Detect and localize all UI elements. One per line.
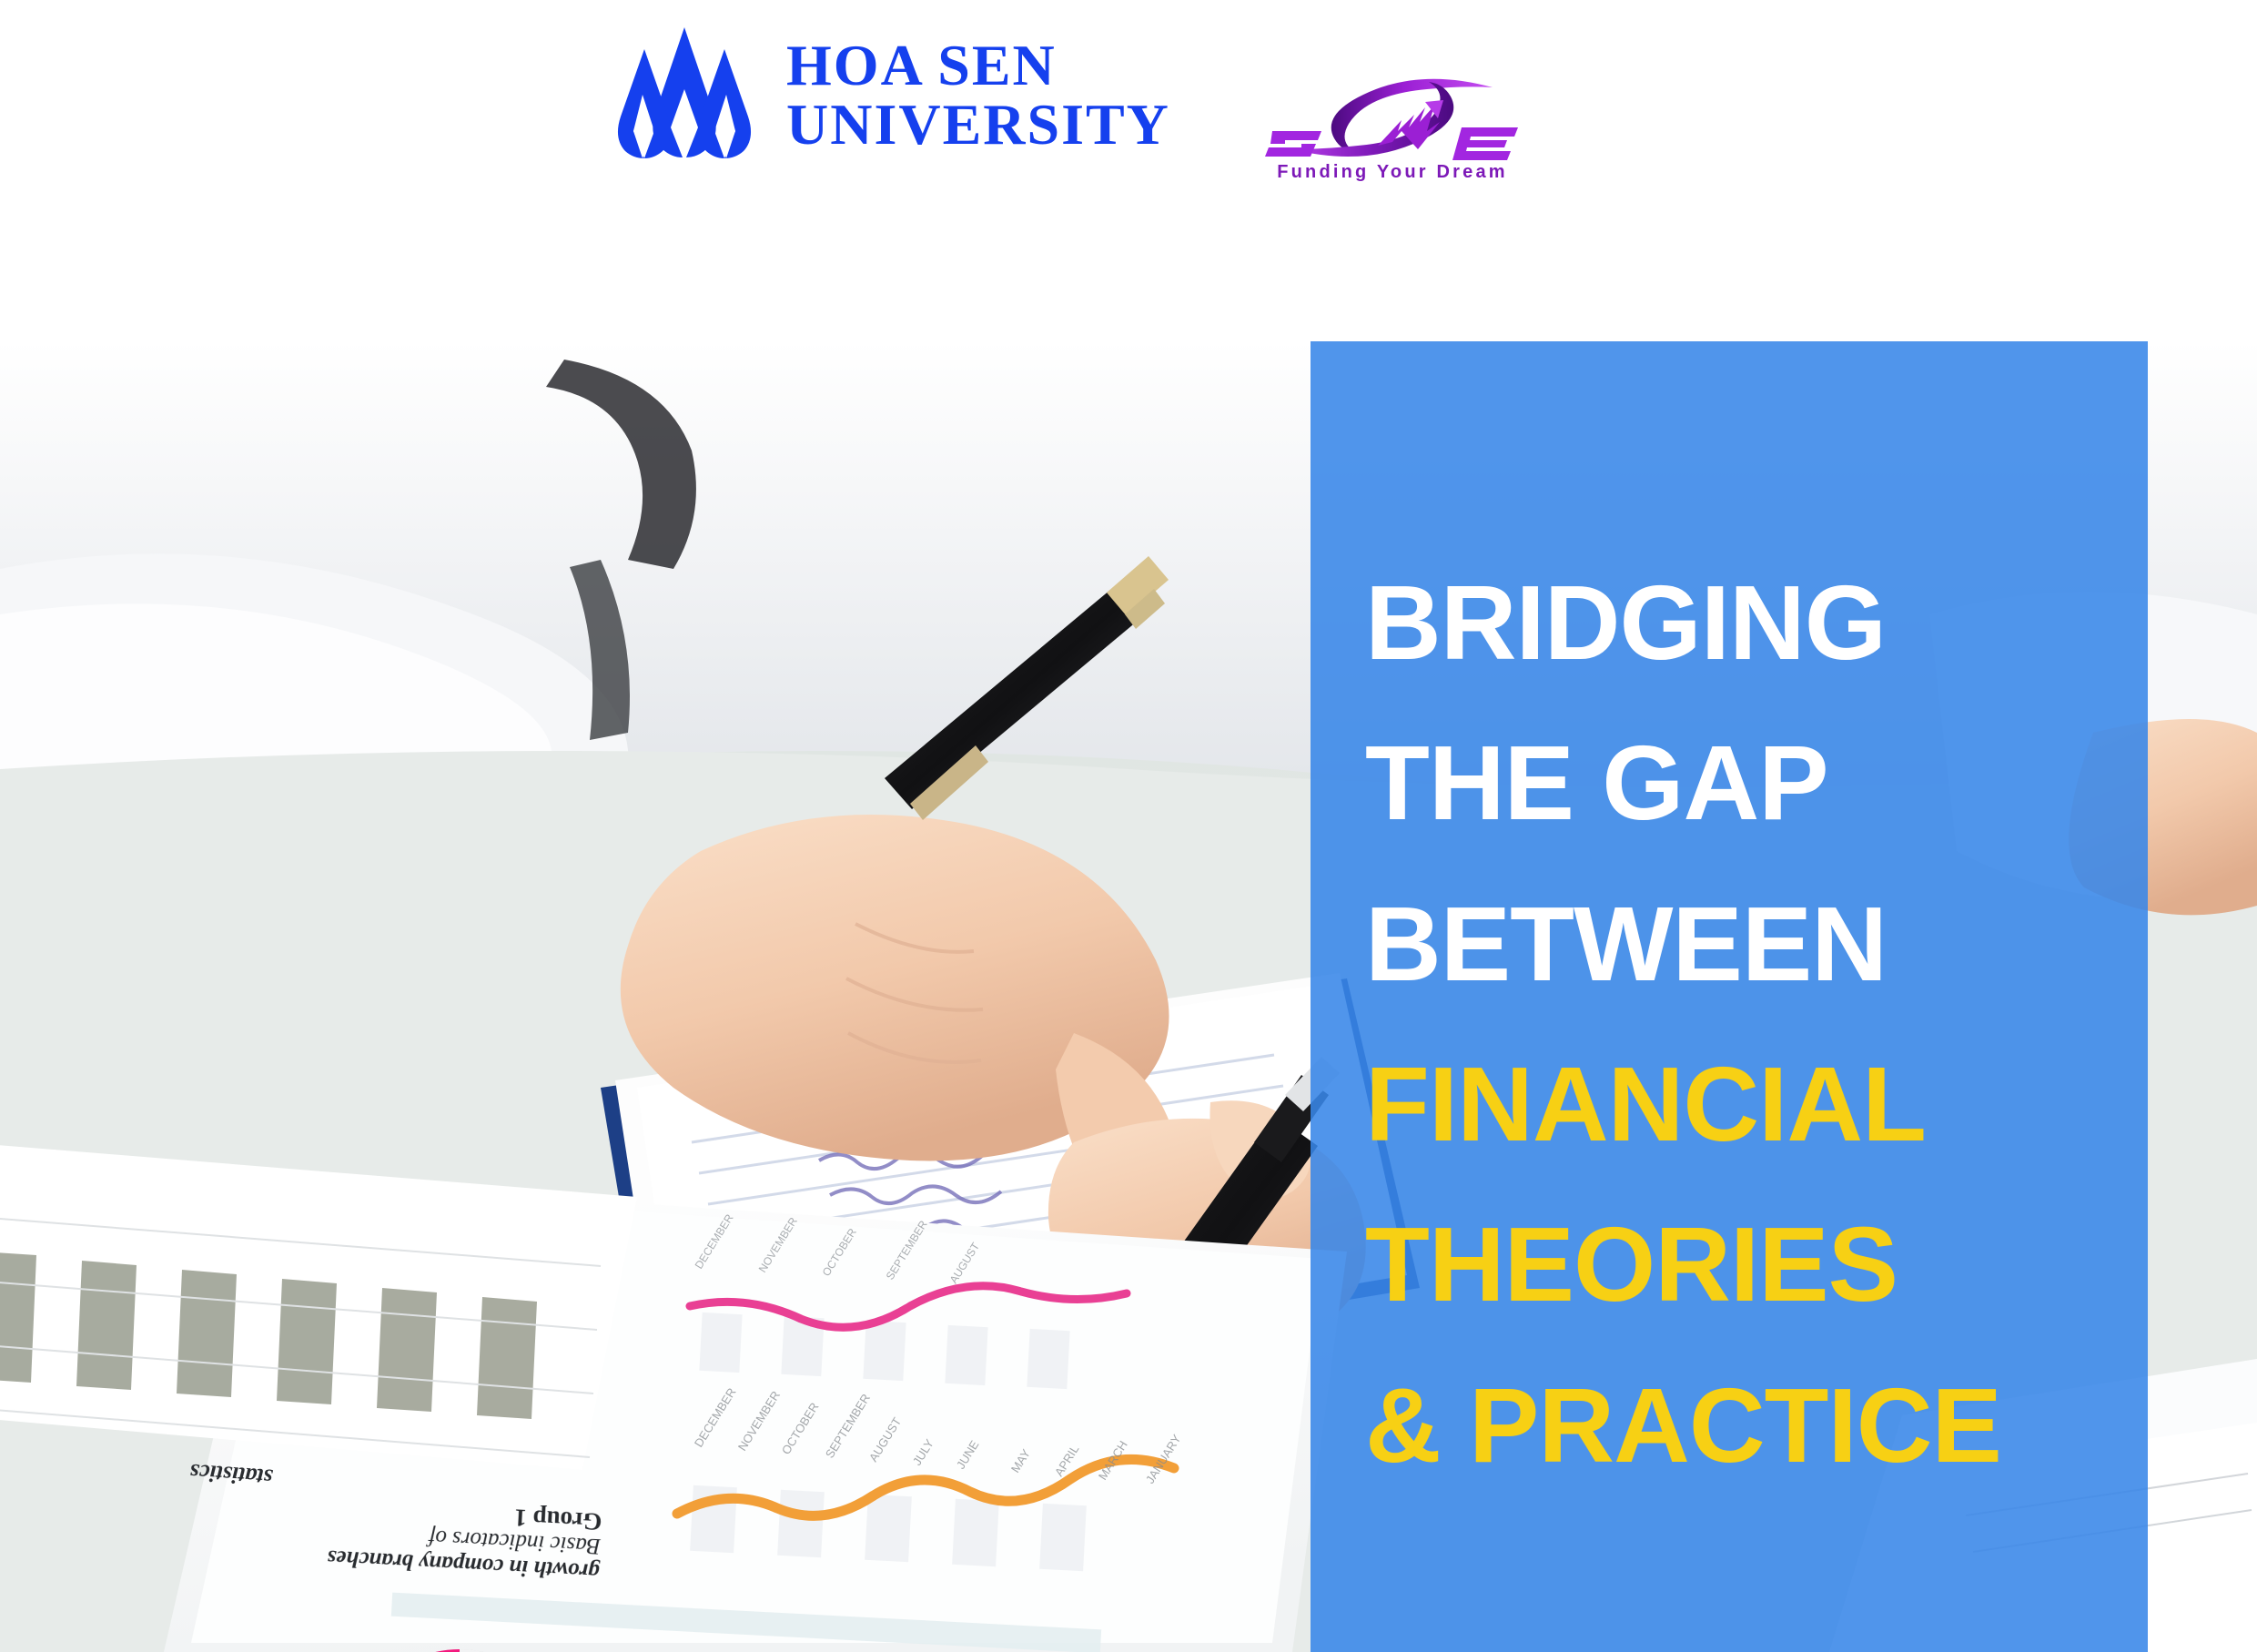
sne-tagline: Funding Your Dream	[1270, 162, 1514, 183]
headline-block: BRIDGING THE GAP BETWEEN FINANCIAL THEOR…	[1365, 341, 2166, 1652]
headline-line-4: FINANCIAL	[1365, 1024, 2166, 1184]
university-name-line1: HOA SEN	[786, 35, 1170, 95]
hoa-sen-flame-logo-icon	[612, 25, 757, 164]
headline-line-1: BRIDGING	[1365, 542, 2166, 703]
sne-swoosh-logo-icon	[1265, 75, 1520, 162]
hoa-sen-university-logo: HOA SEN UNIVERSITY	[612, 25, 1170, 164]
university-name-line2: UNIVERSITY	[786, 95, 1170, 154]
sne-partner-logo: Funding Your Dream	[1265, 75, 1538, 193]
poster-banner: HOA SEN UNIVERSITY	[0, 0, 2257, 1652]
hoa-sen-wordmark: HOA SEN UNIVERSITY	[786, 35, 1170, 155]
headline-line-3: BETWEEN	[1365, 864, 2166, 1024]
headline-line-2: THE GAP	[1365, 703, 2166, 863]
headline-line-6: & PRACTICE	[1365, 1345, 2166, 1505]
headline-line-5: THEORIES	[1365, 1184, 2166, 1344]
header-bar: HOA SEN UNIVERSITY	[0, 0, 2257, 341]
svg-text:Group 1: Group 1	[513, 1504, 602, 1535]
